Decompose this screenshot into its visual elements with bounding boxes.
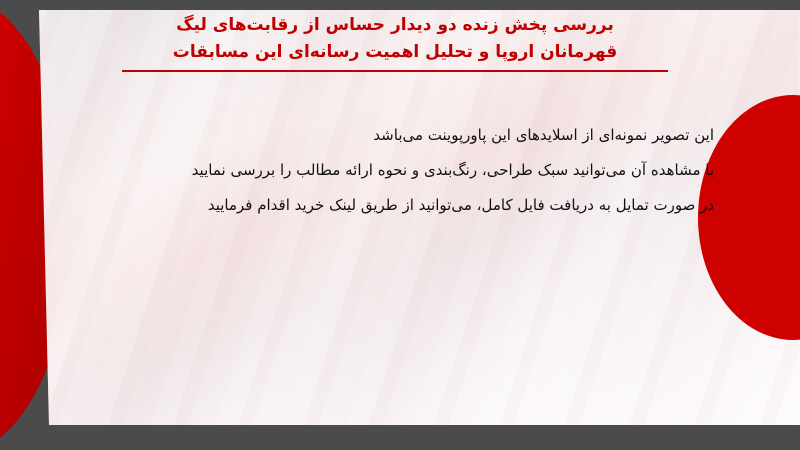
body-line-2: با مشاهده آن می‌توانید سبک طراحی، رنگ‌بن… [94, 153, 714, 188]
slide-body: این تصویر نمونه‌ای از اسلایدهای این پاور… [94, 118, 714, 223]
title-line-2: قهرمانان اروپا و تحلیل اهمیت رسانه‌ای ای… [100, 39, 690, 66]
slide-canvas: بررسی پخش زنده دو دیدار حساس از رقابت‌ها… [0, 0, 800, 450]
slide-content: بررسی پخش زنده دو دیدار حساس از رقابت‌ها… [0, 0, 800, 450]
body-line-1: این تصویر نمونه‌ای از اسلایدهای این پاور… [94, 118, 714, 153]
slide-title: بررسی پخش زنده دو دیدار حساس از رقابت‌ها… [100, 12, 690, 72]
body-line-3: در صورت تمایل به دریافت فایل کامل، می‌تو… [94, 188, 714, 223]
title-line-1: بررسی پخش زنده دو دیدار حساس از رقابت‌ها… [100, 12, 690, 39]
title-underline [122, 70, 668, 72]
